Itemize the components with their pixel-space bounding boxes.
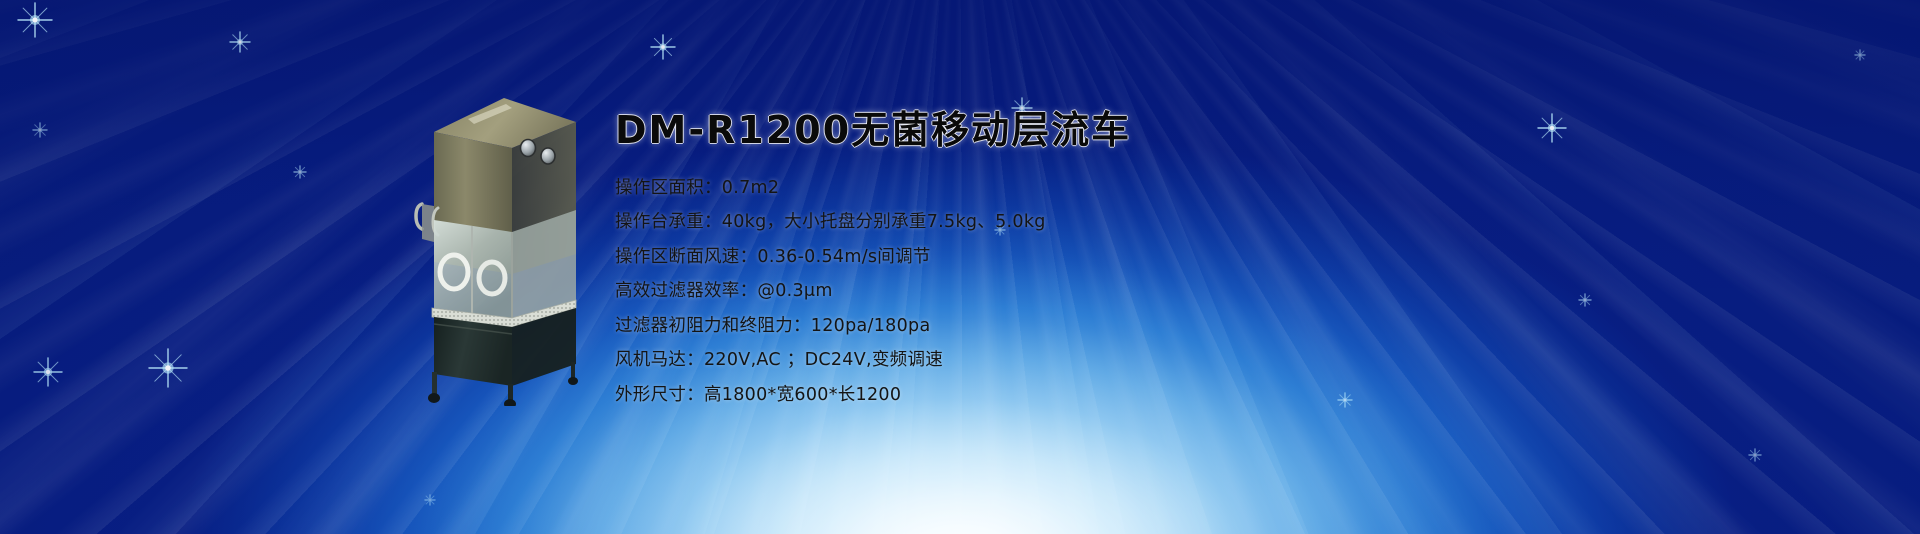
caster-wheel-3 — [568, 377, 578, 385]
spec-line: 操作区面积：0.7m2 — [615, 180, 1515, 198]
text-column: DM-R1200无菌移动层流车 操作区面积：0.7m2操作台承重：40kg，大小… — [615, 110, 1515, 421]
product-title: DM-R1200无菌移动层流车 — [615, 110, 1515, 152]
pressure-gauge-2 — [541, 148, 555, 164]
lower-cabinet-front — [434, 317, 512, 386]
spec-line: 外形尺寸：高1800*宽600*长1200 — [615, 387, 1515, 405]
product-banner: DM-R1200无菌移动层流车 操作区面积：0.7m2操作台承重：40kg，大小… — [0, 0, 1920, 534]
pressure-gauge-1 — [521, 140, 536, 157]
spec-line: 操作区断面风速：0.36-0.54m/s间调节 — [615, 249, 1515, 267]
spec-line: 过滤器初阻力和终阻力：120pa/180pa — [615, 318, 1515, 336]
leg-front-left — [432, 372, 437, 396]
caster-wheel-1 — [428, 393, 440, 403]
spec-line: 高效过滤器效率：@0.3μm — [615, 283, 1515, 301]
spec-line: 操作台承重：40kg，大小托盘分别承重7.5kg、5.0kg — [615, 214, 1515, 232]
specification-list: 操作区面积：0.7m2操作台承重：40kg，大小托盘分别承重7.5kg、5.0k… — [615, 180, 1515, 405]
handle-upper — [416, 204, 422, 229]
caster-wheel-2 — [504, 399, 516, 406]
spec-line: 风机马达：220V,AC ；DC24V,变频调速 — [615, 352, 1515, 370]
product-image — [408, 86, 628, 406]
